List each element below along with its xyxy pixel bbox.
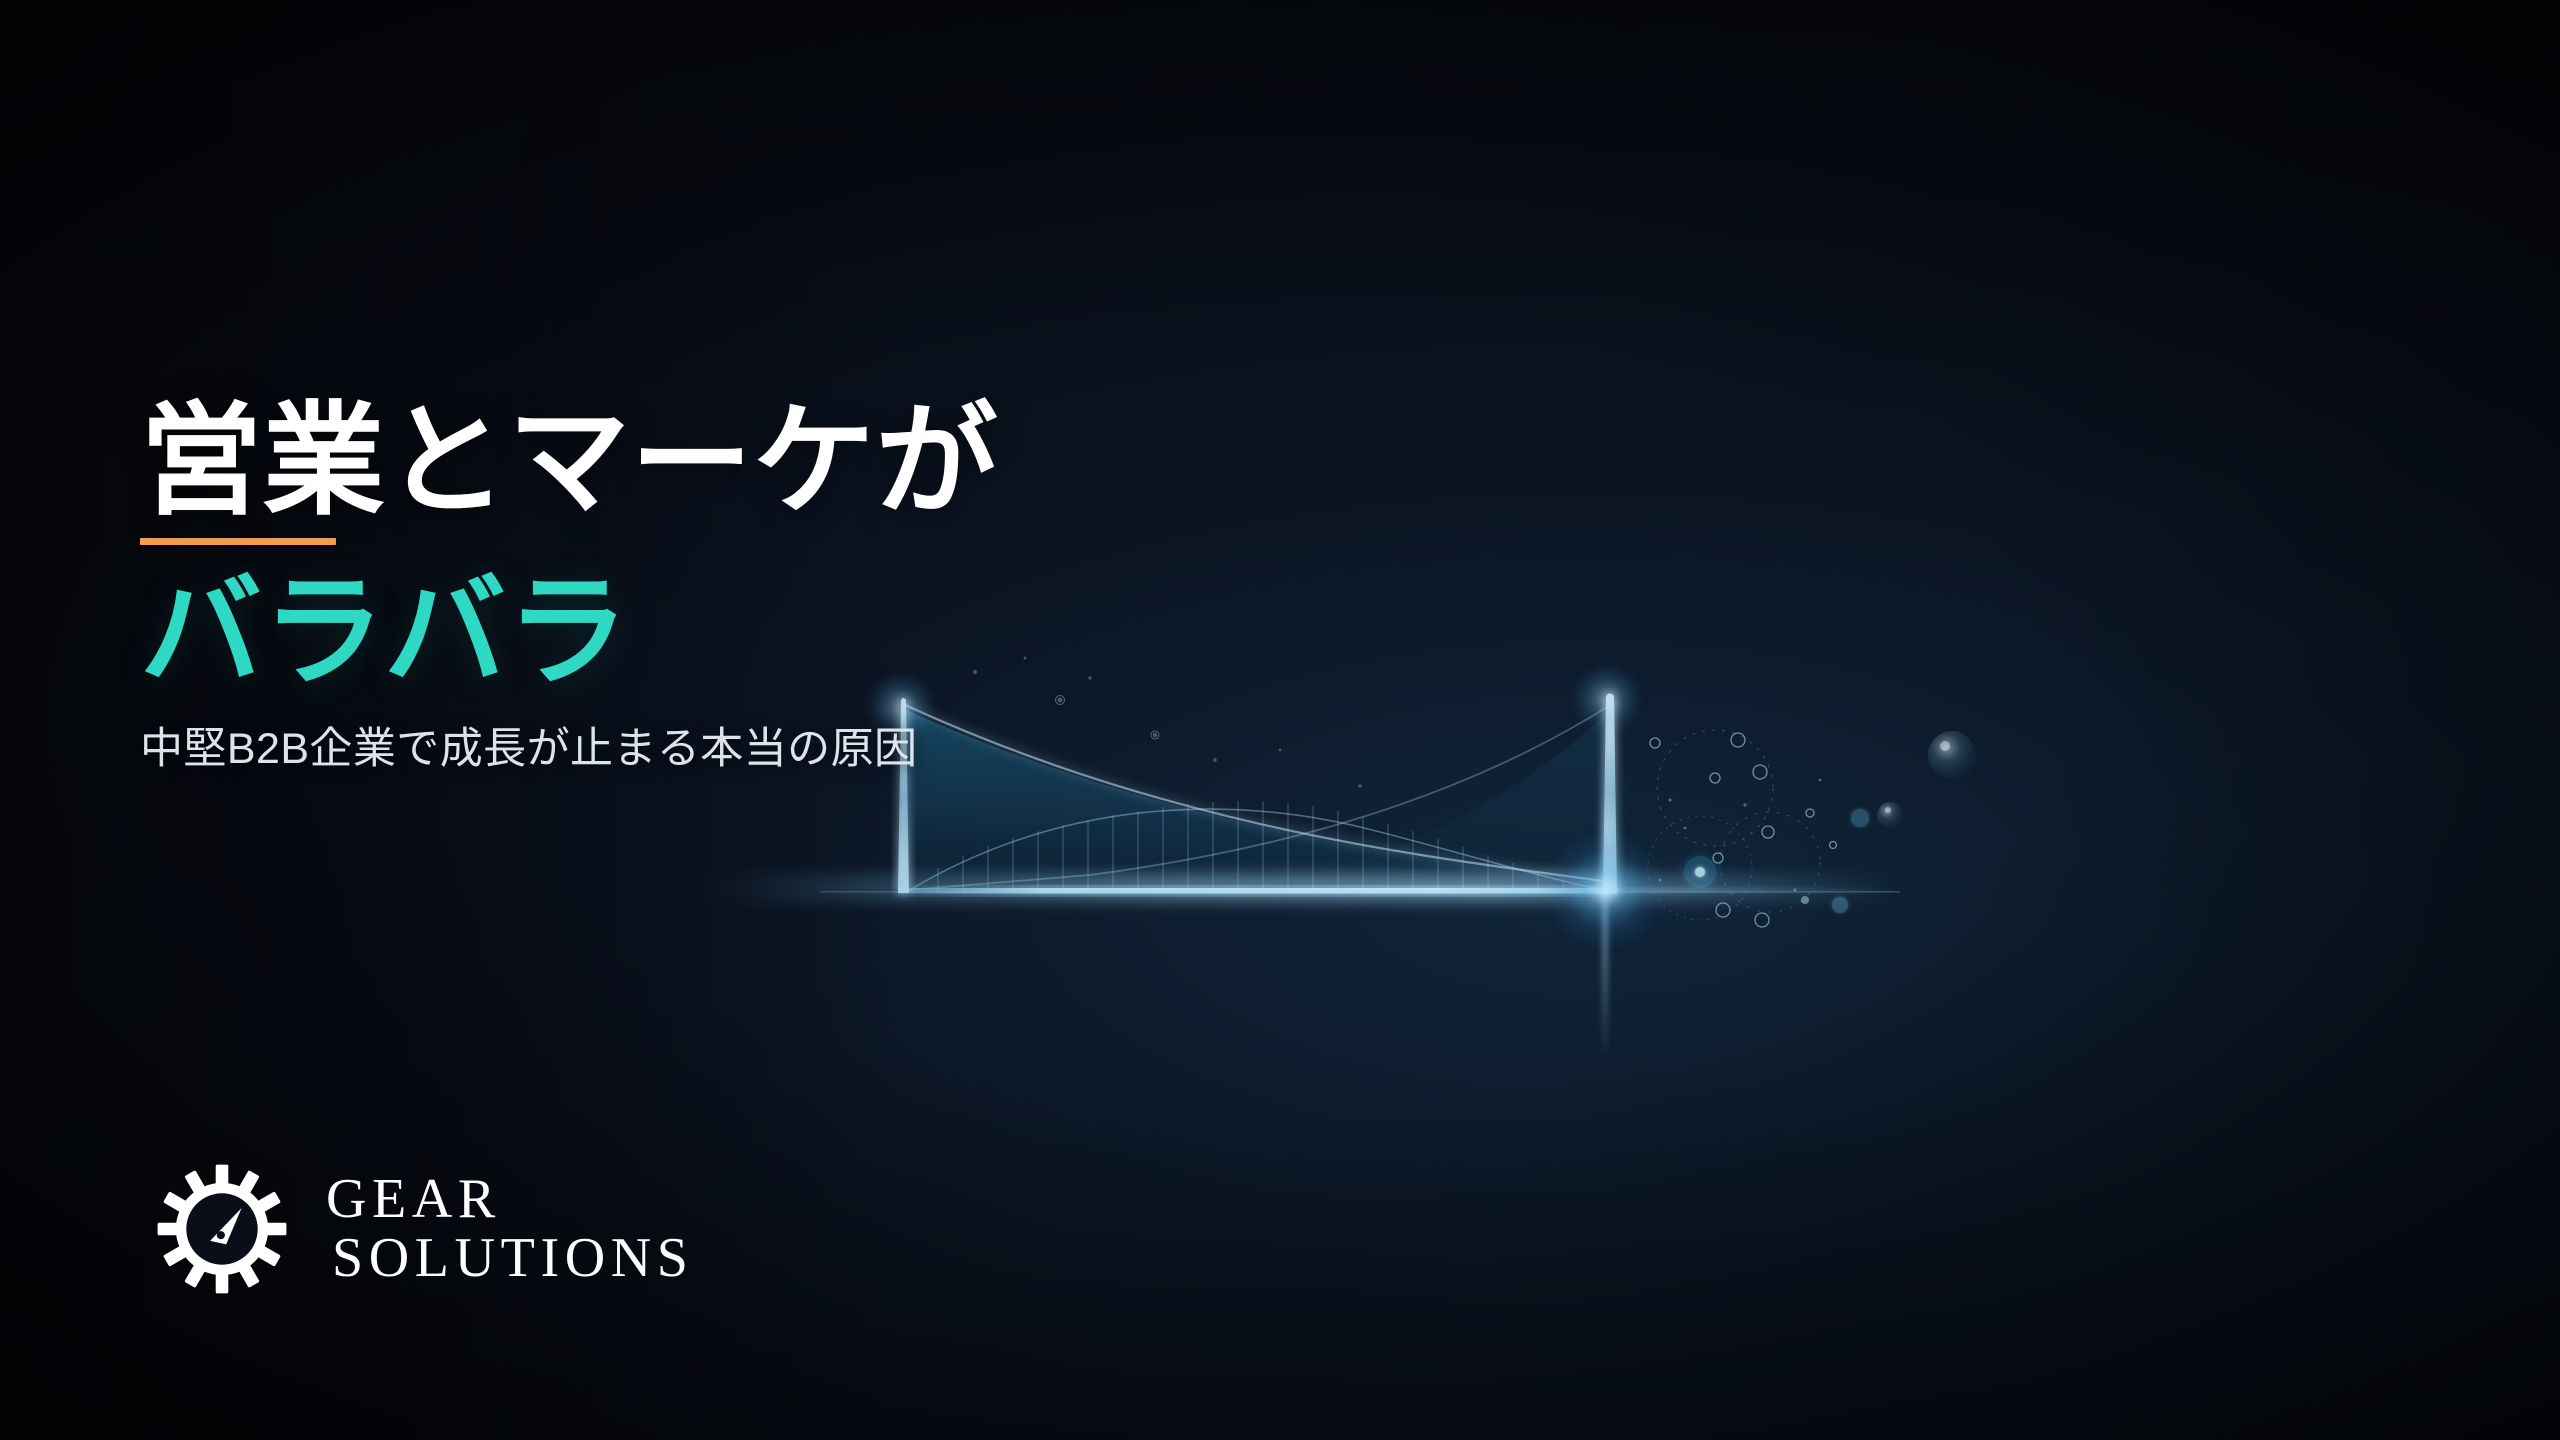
brand-logo: GEAR SOLUTIONS — [152, 1158, 694, 1300]
headline-line-2: バラバラ — [140, 571, 1240, 693]
brand-word-solutions: SOLUTIONS — [326, 1229, 694, 1288]
brand-wordmark: GEAR SOLUTIONS — [326, 1170, 694, 1289]
subtitle: 中堅B2B企業で成長が止まる本当の原因 — [140, 723, 1240, 777]
title-slide: 営業とマーケが バラバラ 中堅B2B企業で成長が止まる本当の原因 — [0, 0, 2560, 1440]
title-block: 営業とマーケが バラバラ 中堅B2B企業で成長が止まる本当の原因 — [140, 400, 1240, 777]
accent-underline — [140, 538, 336, 545]
brand-word-gear: GEAR — [326, 1170, 694, 1229]
gear-compass-icon — [152, 1158, 292, 1300]
headline-line-1: 営業とマーケが — [140, 400, 1240, 522]
